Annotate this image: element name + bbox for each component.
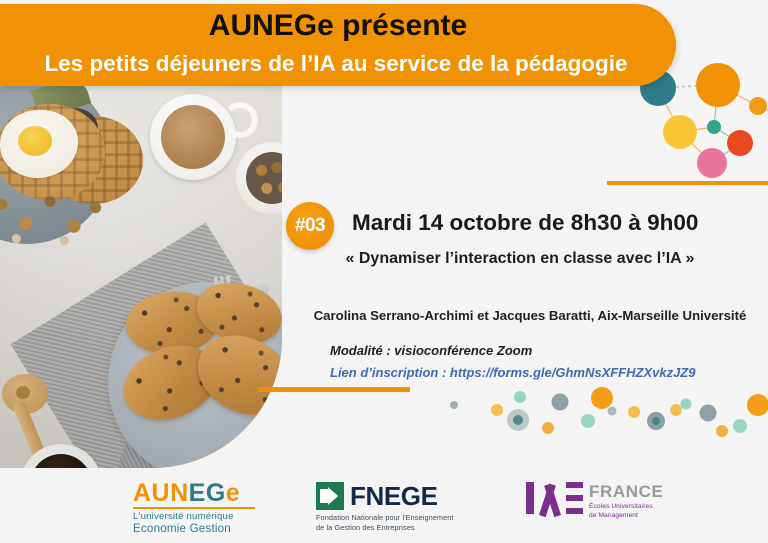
fnege-logo: FNEGE Fondation Nationale pour l'Enseign… [316, 482, 466, 533]
session-date: Mardi 14 octobre de 8h30 à 9h00 [352, 210, 752, 236]
iae-monogram-icon [526, 482, 582, 514]
coffee-cup-handle [222, 102, 258, 138]
fnege-logo-row: FNEGE [316, 482, 466, 510]
aunege-logo: AUNEGe L'université numérique Economie G… [133, 481, 263, 535]
aunege-wordmark-part-eg: EG [189, 479, 226, 507]
node-red-orange [727, 130, 753, 156]
iae-tagline-line1: Écoles Universitaires [589, 502, 663, 511]
photo-content [0, 86, 282, 468]
fnege-wordmark: FNEGE [350, 483, 438, 509]
granola-cluster [0, 186, 110, 248]
fried-egg-yolk [18, 126, 52, 156]
aunege-underline [133, 507, 255, 509]
iae-letter-e [566, 482, 583, 514]
iae-letter-i [526, 482, 534, 514]
accent-rule-top-right [607, 181, 768, 185]
coffee-with-milk [161, 105, 225, 169]
aunege-tagline-line2: Economie Gestion [133, 522, 263, 535]
accent-rule-middle [258, 387, 410, 392]
node-yellow [663, 115, 697, 149]
header-banner: AUNEGe présente Les petits déjeuners de … [0, 4, 676, 86]
footer-logo-bar: AUNEGe L'université numérique Economie G… [0, 468, 768, 543]
aunege-wordmark-part-aun: AUN [133, 479, 189, 507]
node-orange-small [749, 97, 767, 115]
scatter-dots [450, 387, 768, 437]
network-nodes [640, 63, 767, 178]
session-number-label: #03 [295, 215, 325, 237]
page-subtitle: Les petits déjeuners de l’IA au service … [0, 51, 672, 77]
wooden-spoon-hole [16, 386, 30, 399]
node-green-small [707, 120, 721, 134]
aunege-wordmark-part-e: e [226, 479, 240, 507]
node-pink [697, 148, 727, 178]
node-orange-large [696, 63, 740, 107]
iae-france-wordmark: FRANCE [589, 483, 663, 500]
session-speakers: Carolina Serrano-Archimi et Jacques Bara… [300, 308, 760, 323]
fnege-tagline-line2: de la Gestion des Entreprises [316, 523, 466, 533]
dot-scatter-decoration [440, 383, 768, 451]
registration-link[interactable]: Lien d’inscription : https://forms.gle/G… [330, 365, 695, 380]
iae-logo-row: FRANCE Écoles Universitaires de Manageme… [526, 482, 676, 520]
fnege-tagline-line1: Fondation Nationale pour l'Enseignement [316, 513, 466, 523]
session-theme: « Dynamiser l’interaction en classe avec… [300, 250, 740, 268]
fnege-tagline: Fondation Nationale pour l'Enseignement … [316, 513, 466, 533]
aunege-wordmark: AUNEGe [133, 481, 263, 506]
iae-tagline-line2: de Management [589, 511, 663, 520]
page-title: AUNEGe présente [0, 9, 676, 43]
session-number-badge: #03 [286, 202, 334, 250]
breakfast-photo [0, 86, 282, 468]
fnege-arrow-icon [316, 482, 344, 510]
iae-tagline: Écoles Universitaires de Management [589, 502, 663, 520]
session-modality: Modalité : visioconférence Zoom [330, 343, 532, 358]
iae-text-block: FRANCE Écoles Universitaires de Manageme… [589, 482, 663, 520]
aunege-tagline-line1: L'université numérique [133, 511, 263, 522]
iae-france-logo: FRANCE Écoles Universitaires de Manageme… [526, 482, 676, 520]
poster-canvas: AUNEGe présente Les petits déjeuners de … [0, 0, 768, 543]
